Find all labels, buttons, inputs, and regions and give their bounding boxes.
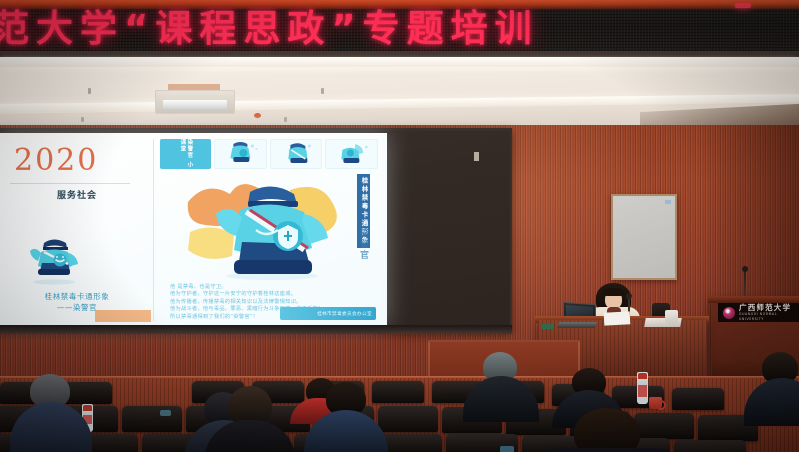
mascot-illustration-small bbox=[24, 233, 84, 285]
poster-thumb-3 bbox=[325, 139, 378, 169]
ceiling-mount-screw bbox=[88, 88, 91, 94]
lectern-top-edge bbox=[708, 296, 799, 303]
slide-divider-rule bbox=[10, 183, 130, 184]
poster-thumbnail-strip: 染警官 小课堂 bbox=[160, 139, 378, 169]
projection-screen-bottom-bar bbox=[0, 325, 512, 334]
audience-person-head bbox=[574, 408, 640, 452]
audience-person-shoulders bbox=[744, 378, 799, 426]
ceiling-mount-screw bbox=[81, 117, 84, 122]
audience-person-shoulders bbox=[463, 376, 539, 422]
poster-vertical-subtitle: 染警官 bbox=[357, 228, 369, 261]
poster-thumb-3-svg bbox=[326, 140, 377, 168]
audience-person-shoulders bbox=[304, 410, 388, 452]
ceiling-mount-screw bbox=[284, 117, 287, 122]
slide-orange-accent-block bbox=[95, 310, 151, 322]
poster-thumb-1 bbox=[214, 139, 267, 169]
led-indicator-dot bbox=[735, 3, 751, 8]
poster-footer-banner: 桂林市禁毒委员会办公室 bbox=[280, 307, 376, 320]
wall-panel-indicator bbox=[665, 200, 671, 204]
seat bbox=[672, 388, 724, 410]
lectern-nameplate-text: 广西师范大学 GUANGXI NORMAL UNIVERSITY bbox=[739, 304, 799, 322]
audience-person-shoulders bbox=[530, 448, 684, 452]
slide-poster-panel: 染警官 小课堂 bbox=[156, 136, 382, 322]
poster-body-line: 他为守护者，守护这一片安宁的守护着桂林这座城。 bbox=[170, 291, 366, 298]
ceiling-smoke-sensor bbox=[254, 113, 261, 118]
led-banner: 范大学“课程思政”专题培训 bbox=[0, 0, 799, 57]
university-logo-icon bbox=[723, 307, 735, 319]
university-name-cn: 广西师范大学 bbox=[739, 304, 799, 312]
slide-year-label: 2020 bbox=[14, 143, 98, 178]
poster-mascot-svg bbox=[180, 176, 360, 284]
poster-thumb-2-svg bbox=[271, 140, 322, 168]
audience-person bbox=[14, 374, 86, 452]
poster-main-illustration bbox=[180, 176, 360, 284]
audience-person bbox=[752, 352, 799, 424]
poster-thumb-label: 染警官 小课堂 bbox=[160, 139, 211, 169]
wall-display-panel bbox=[611, 194, 677, 280]
lecture-hall-photo: 范大学“课程思政”专题培训 2020 服务社会 bbox=[0, 0, 799, 452]
desk-cup bbox=[665, 310, 678, 324]
screen-edge-highlight bbox=[474, 152, 479, 161]
audience-person bbox=[306, 382, 384, 452]
phone-screen-glow bbox=[160, 410, 171, 416]
slide-left-panel: 2020 服务社会 bbox=[0, 133, 152, 325]
slide-caption-line1: 桂林禁毒卡通形象 bbox=[45, 292, 110, 301]
ceiling-light-strip-upper bbox=[0, 57, 799, 67]
desk-green-object bbox=[541, 324, 554, 329]
ceiling-mount-screw bbox=[321, 88, 324, 94]
seat bbox=[378, 406, 438, 432]
bottle-cap bbox=[638, 373, 647, 379]
university-name-en: GUANGXI NORMAL UNIVERSITY bbox=[739, 312, 799, 322]
audience-person bbox=[204, 386, 294, 452]
poster-thumb-1-svg bbox=[215, 140, 266, 168]
ceiling-light-fixture bbox=[155, 90, 235, 114]
slide-vertical-divider bbox=[153, 139, 154, 321]
audience-person bbox=[465, 352, 535, 420]
seat bbox=[122, 406, 182, 432]
audience-person-foreground bbox=[536, 408, 676, 452]
desk-papers-stack bbox=[604, 311, 631, 325]
speaker-fringe bbox=[603, 288, 624, 296]
water-bottle bbox=[637, 372, 648, 404]
mascot-small-svg bbox=[24, 233, 84, 285]
projected-slide: 2020 服务社会 bbox=[0, 133, 387, 325]
slide-subtitle: 服务社会 bbox=[22, 188, 132, 201]
poster-thumb-2 bbox=[270, 139, 323, 169]
led-banner-text: 范大学“课程思政”专题培训 bbox=[0, 5, 539, 52]
laptop-keyboard-base bbox=[557, 322, 597, 328]
seat bbox=[674, 440, 746, 452]
phone-screen-glow bbox=[500, 446, 514, 452]
audience-person-shoulders bbox=[10, 402, 92, 452]
audience-person-shoulders bbox=[204, 420, 296, 452]
lectern-nameplate: 广西师范大学 GUANGXI NORMAL UNIVERSITY bbox=[718, 303, 799, 322]
bottle-label bbox=[638, 385, 647, 397]
